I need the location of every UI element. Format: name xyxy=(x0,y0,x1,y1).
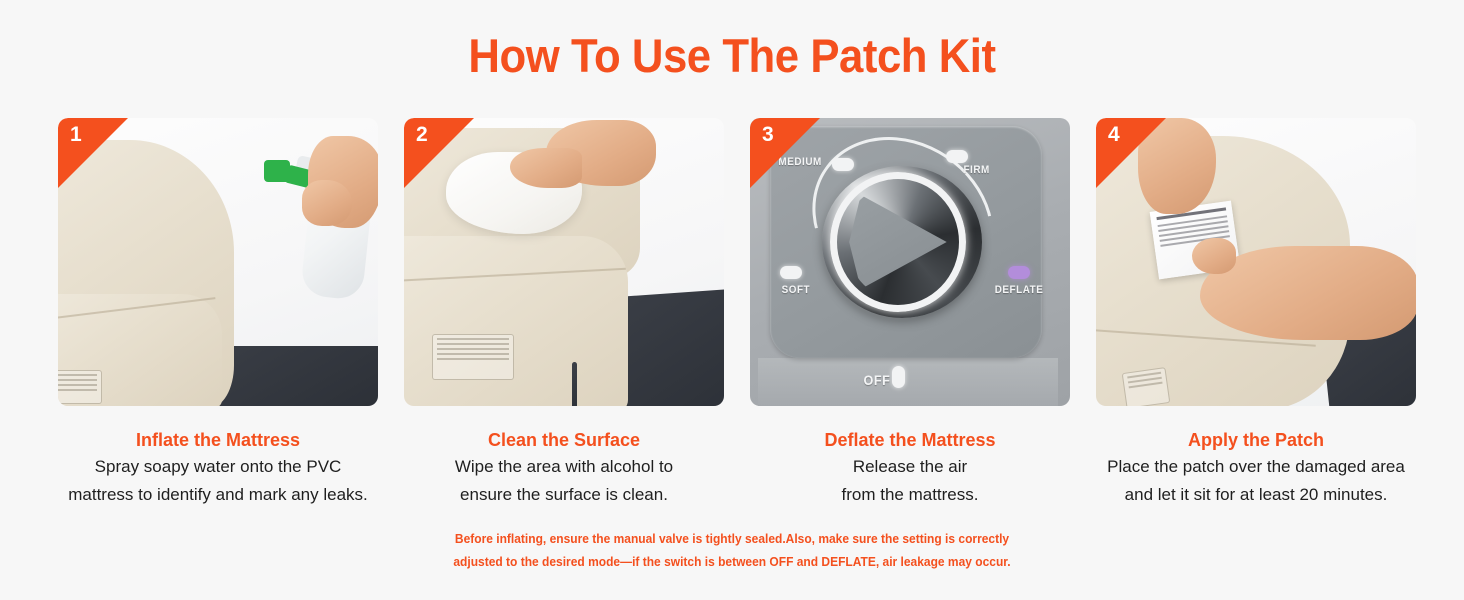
step-card-3[interactable]: MEDIUM FIRM SOFT DEFLATE OFF 3 Deflate t… xyxy=(750,118,1070,418)
mattress-warning-label xyxy=(58,370,102,404)
mattress-warning-label xyxy=(432,334,514,380)
led-off xyxy=(892,366,905,388)
led-deflate xyxy=(1008,266,1030,279)
step-title: Inflate the Mattress xyxy=(58,430,378,451)
infographic-page: How To Use The Patch Kit xyxy=(0,0,1464,600)
patch-scene xyxy=(1096,118,1416,406)
mattress-front xyxy=(404,236,628,406)
step-4-caption: Apply the Patch Place the patch over the… xyxy=(1096,430,1416,507)
led-firm xyxy=(946,150,968,163)
page-title: How To Use The Patch Kit xyxy=(51,28,1413,83)
thumb xyxy=(1192,238,1236,274)
footer-note-line2: adjusted to the desired mode—if the swit… xyxy=(29,551,1434,574)
led-medium xyxy=(832,158,854,171)
step-body-line1: Release the air xyxy=(750,455,1070,479)
step-1-photo: 1 xyxy=(58,118,378,406)
step-card-1[interactable]: 1 Inflate the Mattress Spray soapy water… xyxy=(58,118,378,418)
step-card-2[interactable]: 2 Clean the Surface Wipe the area with a… xyxy=(404,118,724,418)
label-firm: FIRM xyxy=(963,164,989,176)
step-4-photo: 4 xyxy=(1096,118,1416,406)
step-title: Clean the Surface xyxy=(404,430,724,451)
step-title: Deflate the Mattress xyxy=(750,430,1070,451)
control-panel-scene: MEDIUM FIRM SOFT DEFLATE OFF xyxy=(750,118,1070,406)
fingers xyxy=(510,148,582,188)
step-body-line1: Spray soapy water onto the PVC xyxy=(58,455,378,479)
step-3-photo: MEDIUM FIRM SOFT DEFLATE OFF 3 xyxy=(750,118,1070,406)
step-body-line1: Wipe the area with alcohol to xyxy=(404,455,724,479)
clean-scene xyxy=(404,118,724,406)
label-off: OFF xyxy=(863,372,890,388)
led-soft xyxy=(780,266,802,279)
step-body-line2: ensure the surface is clean. xyxy=(404,483,724,507)
spray-scene xyxy=(58,118,378,406)
step-card-4[interactable]: 4 Apply the Patch Place the patch over t… xyxy=(1096,118,1416,418)
step-3-caption: Deflate the Mattress Release the air fro… xyxy=(750,430,1070,507)
label-medium: MEDIUM xyxy=(778,156,821,168)
step-body-line2: mattress to identify and mark any leaks. xyxy=(58,483,378,507)
step-body-line1: Place the patch over the damaged area xyxy=(1096,455,1416,479)
mattress-warning-label xyxy=(1122,367,1171,406)
step-title: Apply the Patch xyxy=(1096,430,1416,451)
step-body-line2: and let it sit for at least 20 minutes. xyxy=(1096,483,1416,507)
panel-base-plate xyxy=(758,358,1058,406)
step-body-line2: from the mattress. xyxy=(750,483,1070,507)
label-deflate: DEFLATE xyxy=(995,284,1044,296)
fingers xyxy=(302,180,352,226)
stand-leg xyxy=(572,362,577,406)
steps-row: 1 Inflate the Mattress Spray soapy water… xyxy=(58,118,1406,418)
footer-note-line1: Before inflating, ensure the manual valv… xyxy=(29,528,1434,551)
footer-warning-note: Before inflating, ensure the manual valv… xyxy=(29,528,1434,574)
step-2-photo: 2 xyxy=(404,118,724,406)
step-2-caption: Clean the Surface Wipe the area with alc… xyxy=(404,430,724,507)
label-soft: SOFT xyxy=(782,284,811,296)
step-1-caption: Inflate the Mattress Spray soapy water o… xyxy=(58,430,378,507)
